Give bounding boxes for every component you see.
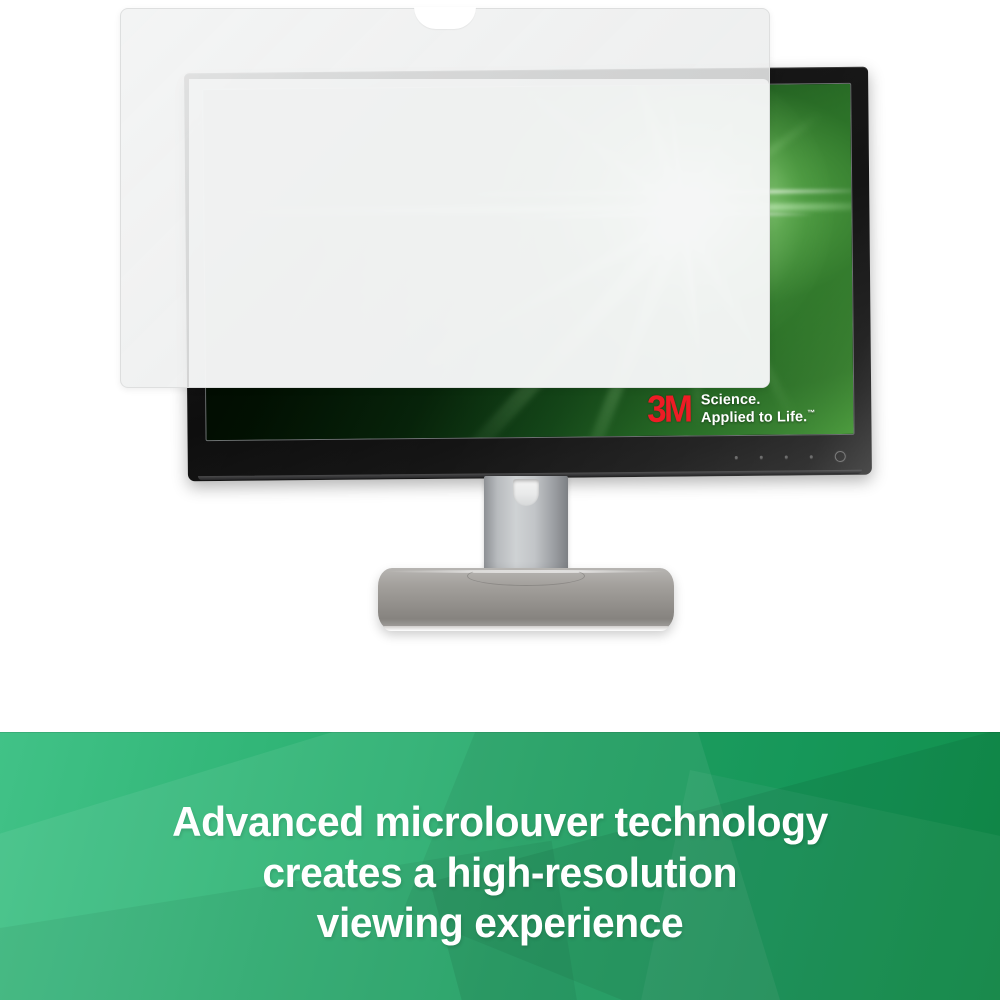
control-dot-3[interactable] — [785, 456, 788, 459]
banner-line-1: Advanced microlouver technology — [172, 798, 828, 847]
marketing-banner: Advanced microlouver technology creates … — [0, 732, 1000, 1000]
control-dot-1[interactable] — [735, 456, 738, 459]
product-marketing-image: 3M Science. Applied to Life.™ — [0, 0, 1000, 1000]
three-m-logo: 3M — [647, 393, 690, 428]
stand-base-foot — [384, 626, 668, 631]
privacy-screen-filter — [120, 8, 770, 388]
cable-management-hole-icon — [513, 479, 539, 506]
banner-line-2: creates a high-resolution — [263, 849, 738, 898]
filter-translucent-overlay — [189, 79, 769, 387]
filter-tab-notch — [414, 7, 476, 29]
brand-lockup: 3M Science. Applied to Life.™ — [645, 391, 816, 428]
brand-tagline-line2-wrap: Applied to Life.™ — [701, 408, 816, 427]
stand-base-seam — [467, 566, 585, 586]
brand-tagline-line1: Science. — [701, 391, 816, 409]
power-circle-icon[interactable] — [835, 451, 846, 462]
trademark-symbol: ™ — [807, 408, 815, 417]
control-dot-4[interactable] — [810, 455, 813, 458]
product-photo-area: 3M Science. Applied to Life.™ — [0, 0, 1000, 732]
banner-line-3: viewing experience — [317, 899, 684, 948]
monitor-controls — [735, 451, 846, 463]
monitor-stand-base — [378, 568, 674, 630]
control-dot-2[interactable] — [760, 456, 763, 459]
brand-tagline-line2: Applied to Life. — [701, 409, 807, 426]
banner-copy: Advanced microlouver technology creates … — [0, 732, 1000, 1000]
brand-tagline: Science. Applied to Life.™ — [701, 391, 816, 427]
